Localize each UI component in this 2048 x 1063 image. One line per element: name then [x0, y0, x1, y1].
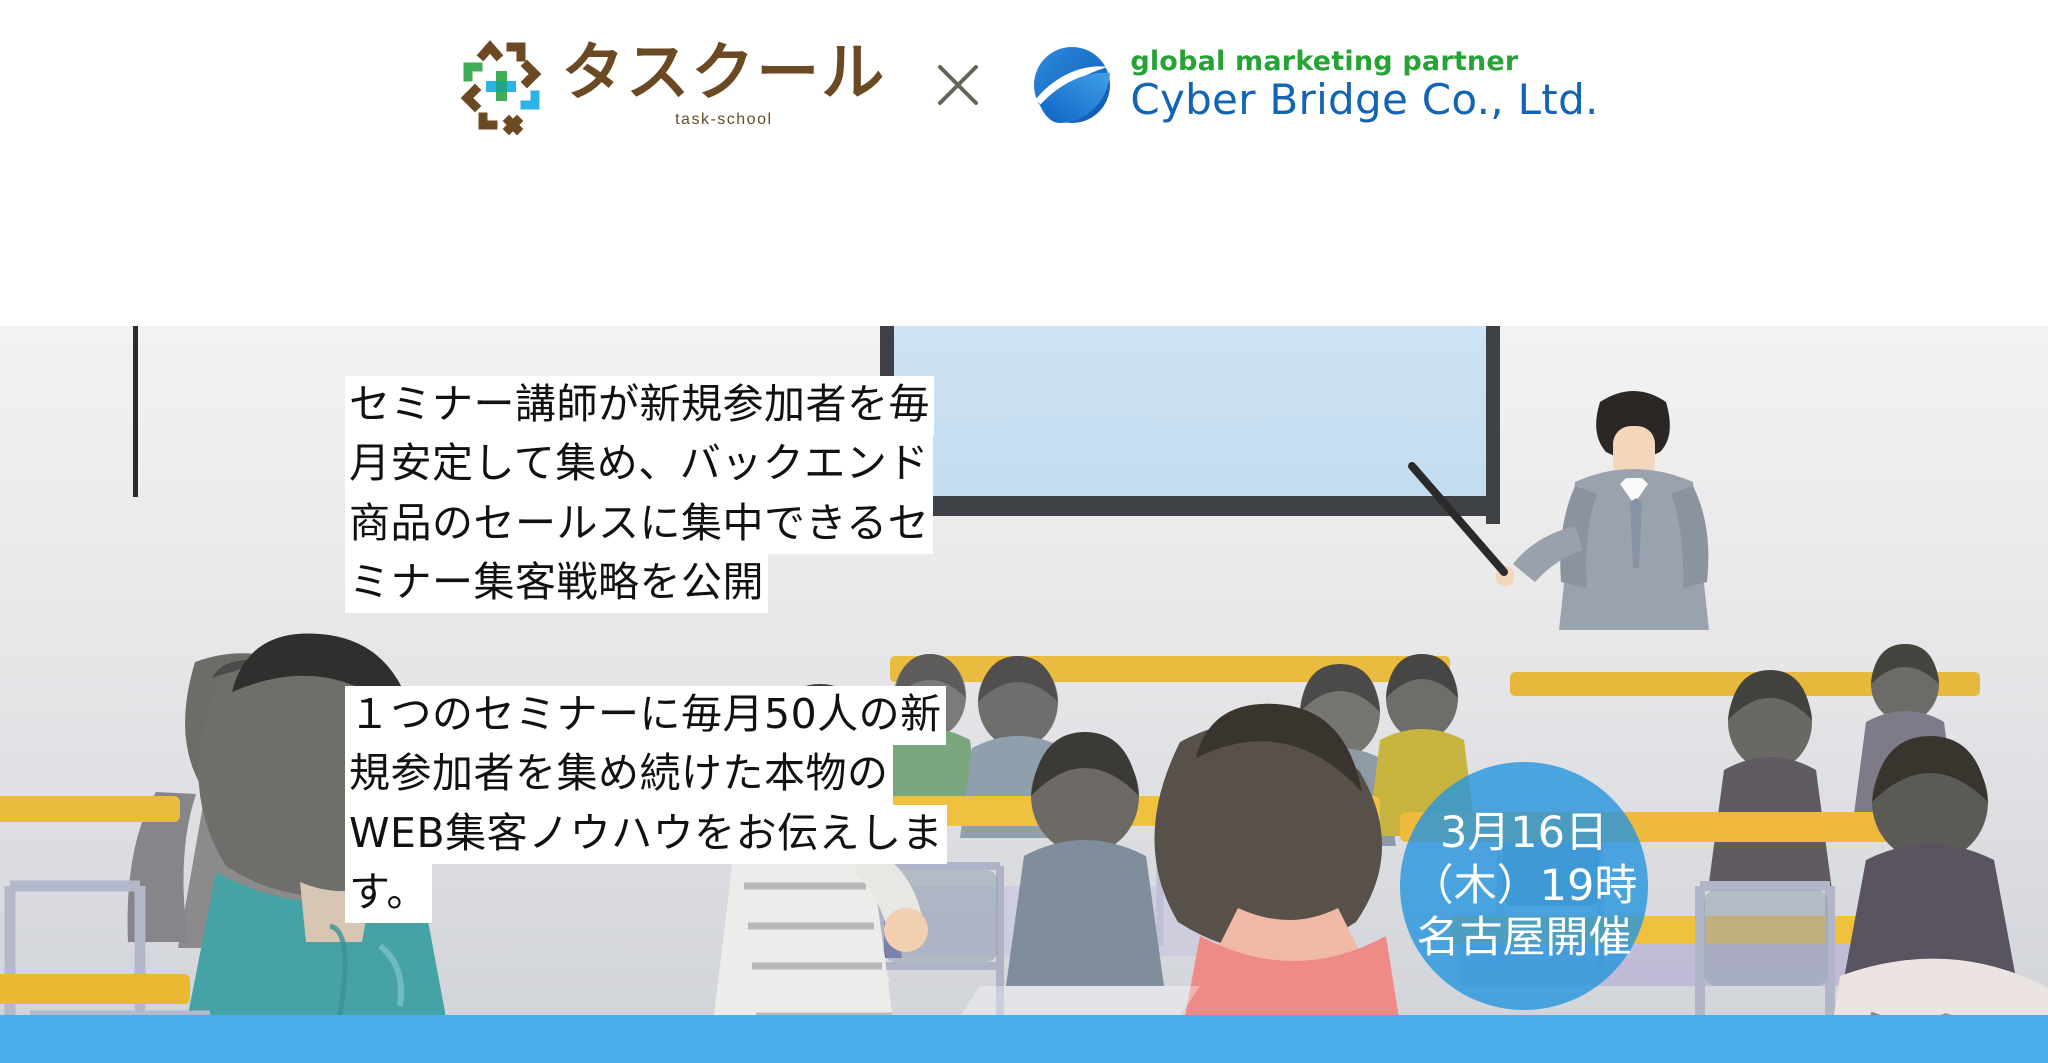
cyber-bridge-company-name: Cyber Bridge Co., Ltd. [1130, 77, 1598, 123]
subcopy-line-2: 規参加者を集め続けた本物の [345, 745, 893, 804]
badge-location: 名古屋開催 [1417, 912, 1632, 964]
task-school-name: タスクール [561, 41, 886, 104]
subcopy-line-4: す。 [345, 864, 432, 923]
badge-day-time: （木）19時 [1411, 860, 1638, 912]
seminar-room-illustration [0, 326, 2048, 1063]
hero-headline: セミナー講師が新規参加者を毎 月安定して集め、バックエンド 商品のセールスに集中… [345, 376, 934, 613]
task-school-logo[interactable]: タスクール task-school [449, 33, 886, 137]
headline-line-3: 商品のセールスに集中できるセ [345, 495, 933, 554]
cyber-bridge-tagline: global marketing partner [1130, 46, 1598, 77]
hero-illustration [0, 326, 2048, 1063]
logo-header: タスクール task-school [0, 0, 2048, 326]
cyber-bridge-wordmark: global marketing partner Cyber Bridge Co… [1130, 46, 1598, 123]
bottom-blue-band [0, 1015, 2048, 1063]
task-school-subtitle: task-school [675, 111, 772, 129]
hero-subcopy: １つのセミナーに毎月50人の新 規参加者を集め続けた本物の WEB集客ノウハウを… [345, 686, 947, 923]
subcopy-line-3: WEB集客ノウハウをお伝えしま [345, 805, 947, 864]
headline-line-4: ミナー集客戦略を公開 [345, 554, 768, 613]
cross-separator-icon [930, 57, 986, 113]
logo-row: タスクール task-school [0, 0, 2048, 170]
badge-date: 3月16日 [1440, 807, 1608, 859]
event-date-badge: 3月16日 （木）19時 名古屋開催 [1400, 762, 1648, 1010]
landing-page: タスクール task-school [0, 0, 2048, 1063]
task-school-bracket-plus-icon [449, 33, 553, 137]
task-school-wordmark: タスクール task-school [561, 41, 886, 129]
headline-line-1: セミナー講師が新規参加者を毎 [345, 376, 934, 435]
subcopy-line-1: １つのセミナーに毎月50人の新 [345, 686, 946, 745]
cyber-bridge-globe-icon [1030, 43, 1114, 127]
cyber-bridge-logo[interactable]: global marketing partner Cyber Bridge Co… [1030, 43, 1598, 127]
headline-line-2: 月安定して集め、バックエンド [345, 435, 933, 494]
